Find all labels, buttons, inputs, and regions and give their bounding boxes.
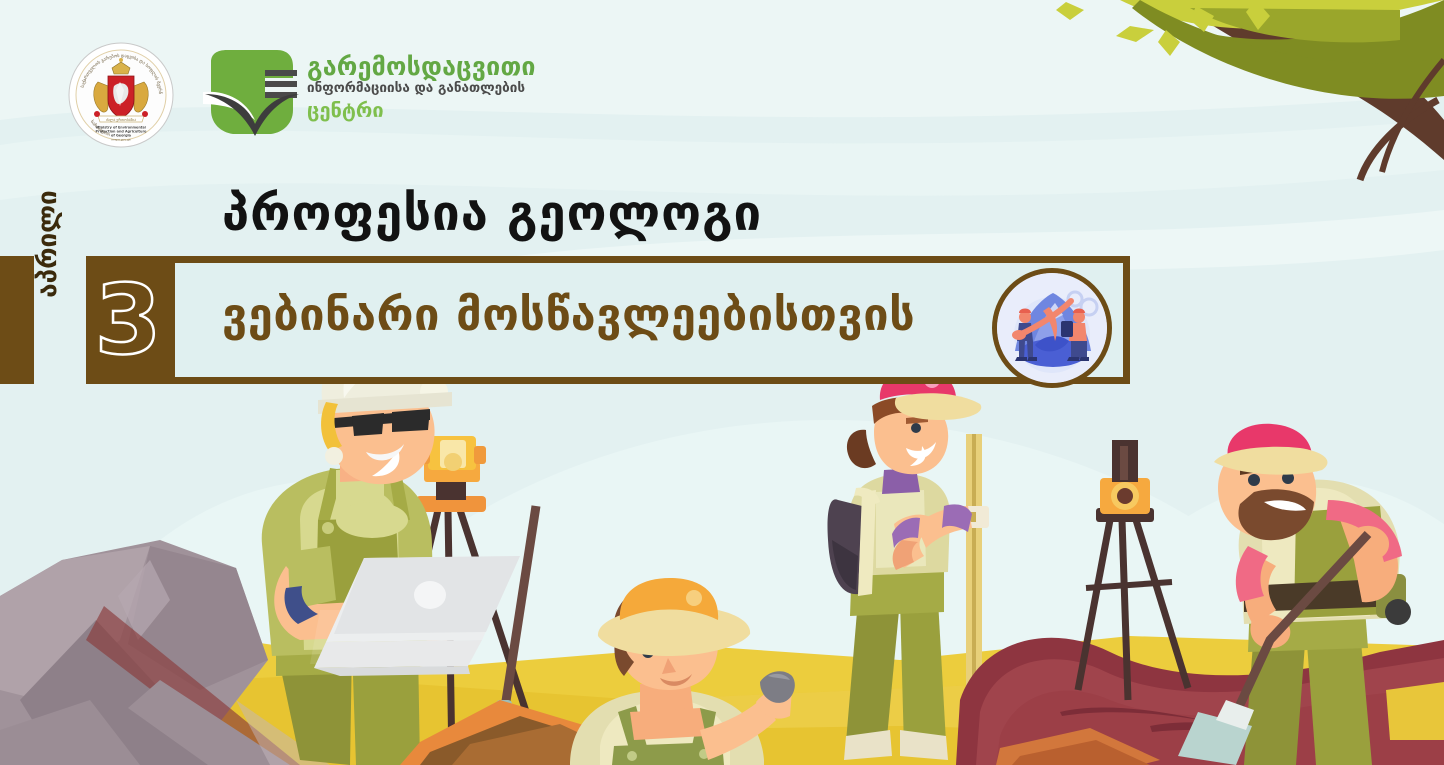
open-book-leaf-logo: [203, 48, 303, 138]
page-title: პროფესია გეოლოგი: [222, 189, 762, 238]
header-logos: საქართველოს გარემოს დაცვისა და სოფლის მე…: [0, 0, 1444, 160]
day-badge: 3: [86, 256, 170, 384]
eiec-line-1: გარემოსდაცვითი: [307, 54, 537, 79]
webinar-banner: საქართველოს გარემოს დაცვისა და სოფლის მე…: [0, 0, 1444, 765]
svg-text:mepa.gov.ge: mepa.gov.ge: [111, 138, 131, 142]
svg-text:ძალა ერთობაშია: ძალა ერთობაშია: [106, 118, 136, 122]
day-number: 3: [95, 272, 162, 368]
geologists-pickaxe-mountain-icon: [992, 268, 1112, 388]
eiec-line-3: ცენტრი: [307, 99, 537, 121]
eiec-logo: გარემოსდაცვითი ინფორმაციისა და განათლები…: [203, 48, 533, 144]
page-subtitle: ვებინარი მოსწავლეებისთვის: [222, 292, 915, 337]
eiec-logo-text: გარემოსდაცვითი ინფორმაციისა და განათლები…: [307, 54, 537, 121]
month-label: აპრილი: [22, 180, 74, 308]
eiec-line-2: ინფორმაციისა და განათლების: [307, 79, 537, 99]
georgia-coat-of-arms: საქართველოს გარემოს დაცვისა და სოფლის მე…: [68, 42, 174, 148]
